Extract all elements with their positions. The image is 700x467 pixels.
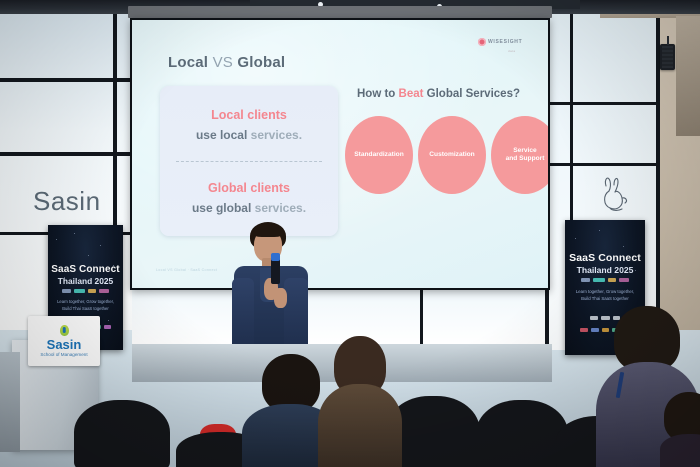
screen-roller	[128, 6, 552, 18]
rabbit-illustration	[592, 172, 636, 216]
attendee	[318, 336, 402, 467]
podium-sign: Sasin School of Management	[28, 316, 100, 366]
attendee-shoulders	[318, 384, 402, 467]
window-mullion	[420, 284, 423, 346]
podium-sign-subtitle: School of Management	[40, 352, 87, 357]
window-mullion	[545, 102, 660, 105]
attendee-shoulders	[660, 434, 700, 467]
podium-sign-name: Sasin	[47, 337, 82, 352]
sasin-emblem-icon	[60, 325, 69, 336]
chair	[74, 400, 170, 467]
speaker-hair-front	[252, 224, 284, 237]
conference-photo: Sasin WISESIGHT data Local VS Global	[0, 0, 700, 467]
banner-left-subtitle: Thailand 2025	[48, 276, 123, 286]
venue-wall-text: Sasin	[33, 186, 101, 217]
banner-left-tagline-1: Learn together, Grow together,	[48, 299, 123, 304]
banner-left-sponsor-row	[48, 289, 123, 293]
banner-right-sponsor-row	[565, 278, 645, 282]
speaker-person	[228, 222, 320, 362]
banner-right-title: SaaS Connect	[565, 252, 645, 264]
podium-base	[0, 352, 20, 452]
window-mullion	[545, 163, 660, 166]
chair	[476, 400, 568, 467]
speaker-hand-second	[274, 288, 287, 308]
banner-right-tagline-1: Learn together, Grow together,	[565, 289, 645, 294]
window-wall-center	[132, 284, 552, 344]
speaker-mount	[667, 36, 669, 45]
wall-speaker	[660, 44, 675, 70]
ceiling-wood-beam	[676, 16, 700, 136]
microphone	[271, 258, 280, 284]
attendee	[660, 392, 700, 467]
microphone-top	[271, 253, 280, 261]
banner-right-subtitle: Thailand 2025	[565, 265, 645, 275]
screen-border	[130, 18, 550, 290]
banner-left-title: SaaS Connect	[48, 264, 123, 275]
banner-right-tagline-2: Build Thai SaaS together	[565, 296, 645, 301]
banner-left-tagline-2: Build Thai SaaS together	[48, 306, 123, 311]
